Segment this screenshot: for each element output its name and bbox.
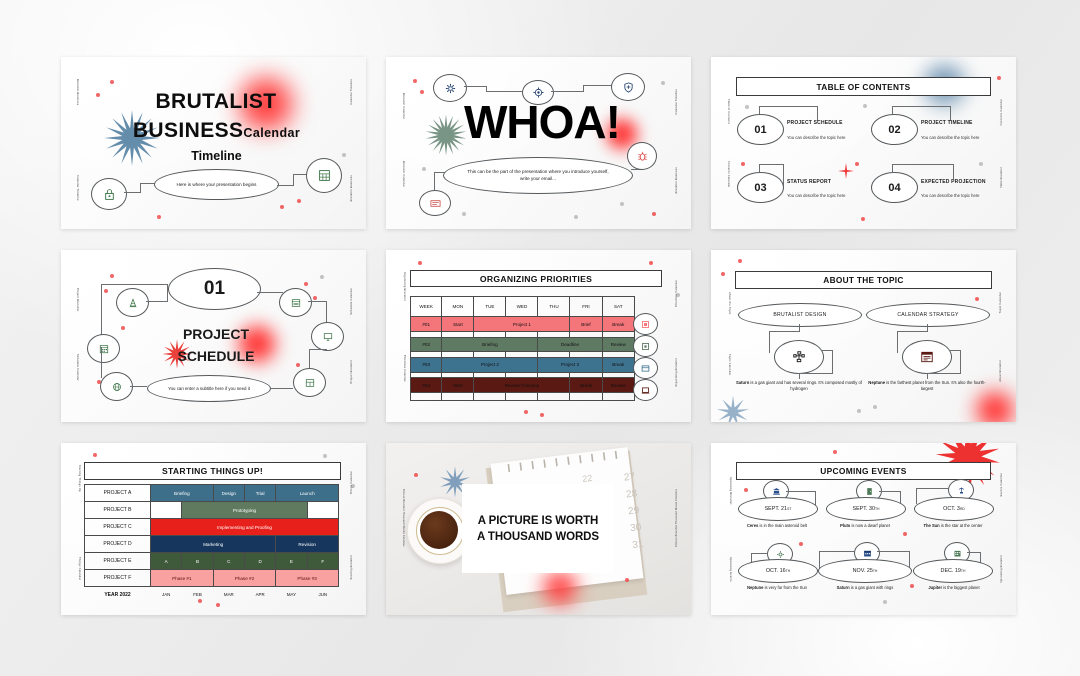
side-label: Priorities Calendar <box>675 280 678 307</box>
event-caption-rest: is in the main asteroid belt <box>758 523 807 528</box>
toc-number: 03 <box>754 182 766 194</box>
task-cell: Project 2 <box>442 358 538 373</box>
section-heading-line-1: PROJECT <box>151 326 281 342</box>
month-label: MAY <box>276 587 307 603</box>
table-header-row: WEEK MON TUE WED THU FRI SAT <box>411 297 635 317</box>
event-date: OCT. 3 <box>943 506 960 512</box>
network-icon <box>792 350 806 364</box>
year-label: YEAR 2022 <box>85 587 151 603</box>
month-label: APR <box>244 587 275 603</box>
event-caption: Neptune is very far from the Sun <box>733 585 821 591</box>
toc-label[interactable]: STATUS REPORT <box>787 179 831 185</box>
task-cell: Brief <box>570 317 602 332</box>
gantt-row[interactable]: PROJECT E A B C D E F <box>85 553 339 570</box>
column-header: WEEK <box>411 297 442 317</box>
toc-number: 02 <box>888 124 900 136</box>
column-header: THU <box>538 297 570 317</box>
quote-line-1: A PICTURE IS WORTH <box>478 515 598 527</box>
task-cell: Review Checkup <box>474 378 570 393</box>
gantt-row[interactable]: PROJECT C Implementing and Proofing <box>85 519 339 536</box>
branch-caption-rest: is a gas giant and has several rings. It… <box>749 380 862 391</box>
table-row[interactable]: #03 Project 2 Project 3 Break <box>411 358 635 373</box>
gantt-bar: Phase #3 <box>276 570 339 587</box>
gear-icon <box>445 83 456 94</box>
gantt-row[interactable]: PROJECT B Prototyping <box>85 502 339 519</box>
toc-number-oval[interactable]: 04 <box>871 172 918 203</box>
branch-heading-oval[interactable]: CALENDAR STRATEGY <box>866 303 990 327</box>
title-line-3: Timeline <box>109 149 324 163</box>
gantt-bar: Design <box>213 485 244 502</box>
event-caption: Saturn is a gas giant with rings <box>821 585 909 591</box>
page-title-bar: ABOUT THE TOPIC <box>735 271 992 289</box>
table-row[interactable]: #02 Briefing Deadline Review <box>411 337 635 352</box>
week-cell: #03 <box>411 358 442 373</box>
branch-heading-oval[interactable]: BRUTALIST DESIGN <box>738 303 862 327</box>
event-date: SEPT. 30 <box>852 506 874 512</box>
page-title-bar: ORGANIZING PRIORITIES <box>410 270 662 287</box>
event-caption: The Sun is the star at the center <box>909 523 997 529</box>
signal-icon <box>957 486 966 495</box>
calendar-grid-icon <box>318 169 331 182</box>
calendar-icon <box>863 549 872 558</box>
task-cell: Start <box>442 378 474 393</box>
globe-icon <box>112 382 122 392</box>
slide-thumbnail-picture[interactable]: 2728293031 2223242526 Picture Brutalist … <box>386 443 691 615</box>
calendar-grid-icon-badge[interactable] <box>306 158 342 193</box>
laptop-icon-badge[interactable] <box>633 379 658 401</box>
slide-thumbnail-section[interactable]: Project Brutalist Schedule Calendar Sche… <box>61 250 366 422</box>
gantt-table[interactable]: PROJECT A Briefing Design Trial Launch P… <box>84 484 339 603</box>
side-label: Calendar Timeline <box>76 175 79 201</box>
column-header: MON <box>442 297 474 317</box>
table-icon <box>305 378 315 388</box>
title-line-2: BUSINESSCalendar <box>109 119 324 143</box>
toc-label[interactable]: PROJECT SCHEDULE <box>787 120 843 126</box>
side-label: Picture Brutalist Thousand Words Calenda… <box>675 489 678 547</box>
traffic-cone-icon-badge[interactable] <box>116 288 149 317</box>
side-label: Table Brutalist <box>1000 167 1003 188</box>
lock-icon-badge[interactable] <box>91 178 127 210</box>
project-label: PROJECT A <box>85 485 151 502</box>
page-title: ORGANIZING PRIORITIES <box>480 274 592 284</box>
toc-desc: You can describe the topic here <box>921 193 989 199</box>
side-label: Schedule Calendar <box>76 354 79 381</box>
branch-heading: CALENDAR STRATEGY <box>897 312 958 318</box>
gantt-bar: C <box>213 553 244 570</box>
keyboard-icon-badge[interactable] <box>419 190 451 216</box>
column-header: FRI <box>570 297 602 317</box>
event-date: DEC. 19 <box>941 568 961 574</box>
side-label: Brutalist Calendar <box>402 161 405 187</box>
event-date-sup: TH <box>786 569 791 573</box>
branch-caption-bold: Saturn <box>736 380 749 385</box>
month-label: FEB <box>182 587 213 603</box>
title-line-1: BRUTALIST <box>111 90 321 114</box>
gallery-icon-badge[interactable] <box>633 313 658 335</box>
calendar-icon-badge[interactable] <box>87 334 120 363</box>
quote-line-2: A THOUSAND WORDS <box>477 531 599 543</box>
project-label: PROJECT C <box>85 519 151 536</box>
title-line-2-main: BUSINESS <box>133 119 244 142</box>
browser-icon <box>641 364 650 373</box>
task-cell: Briefing <box>442 337 538 352</box>
event-date-sup: TH <box>873 569 878 573</box>
branch-heading: BRUTALIST DESIGN <box>773 312 826 318</box>
side-label: Project Brutalist <box>350 360 353 383</box>
project-label: PROJECT F <box>85 570 151 587</box>
month-label: JUN <box>307 587 338 603</box>
slide-thumbnail-priorities[interactable]: Organizing Brutalist Priorities Calendar… <box>386 250 691 422</box>
event-date: NOV. 25 <box>853 568 873 574</box>
section-heading-line-2: SCHEDULE <box>146 348 286 364</box>
event-date: SEPT. 21 <box>765 506 787 512</box>
event-date-oval[interactable]: OCT. 16TH <box>738 559 818 583</box>
gantt-footer-row: YEAR 2022 JAN FEB MAR APR MAY JUN <box>85 587 339 603</box>
save-icon-badge[interactable] <box>633 335 658 357</box>
window-icon <box>291 298 301 308</box>
page-title: STARTING THINGS UP! <box>162 466 263 476</box>
slide-thumbnail-events[interactable]: Upcoming Brutalist Upcoming Events Event… <box>711 443 1016 615</box>
event-date-sup: TH <box>961 569 966 573</box>
slide-thumbnail-about[interactable]: About the Topic Topic Calendar Topic Cal… <box>711 250 1016 422</box>
side-label: Starting Brutalist <box>350 555 353 580</box>
month-label: MAR <box>213 587 244 603</box>
toc-desc: You can describe the topic here <box>787 193 855 199</box>
gantt-bar: E <box>276 553 307 570</box>
page-title: ABOUT THE TOPIC <box>823 275 903 285</box>
headline: WHOA! <box>462 95 622 149</box>
side-label: Brutalist Business <box>350 175 353 201</box>
toc-desc: You can describe the topic here <box>787 135 855 141</box>
event-date-oval[interactable]: SEPT. 21ST <box>738 497 818 521</box>
side-label: Brutalist Business <box>76 79 79 105</box>
table-row[interactable]: #04 Start Review Checkup Break Review <box>411 378 635 393</box>
title-line-2-small: Calendar <box>243 126 300 140</box>
section-number-oval[interactable]: 01 <box>168 268 261 310</box>
side-label: Contents Calendar <box>727 161 730 187</box>
slide-thumbnail-title[interactable]: Brutalist Business Calendar Timeline Cal… <box>61 57 366 229</box>
toc-number-oval[interactable]: 03 <box>737 172 784 203</box>
quote-card: A PICTURE IS WORTH A THOUSAND WORDS <box>462 484 614 573</box>
branch-caption: Neptune is the farthest planet from the … <box>863 380 991 392</box>
slide-thumbnail-gantt[interactable]: Starting Things Up Things Calendar Thing… <box>61 443 366 615</box>
gantt-bar: Phase #1 <box>151 570 214 587</box>
calendar-icon <box>99 344 109 354</box>
event-date-sup: ST <box>787 507 791 511</box>
side-label: Contents Calendar <box>1000 99 1003 125</box>
desktop-icon-badge[interactable] <box>311 322 344 351</box>
month-label: JAN <box>151 587 182 603</box>
side-label: Organizing Brutalist <box>403 272 406 301</box>
gantt-bar: Phase #2 <box>213 570 276 587</box>
table-row[interactable]: #01 Start Project 1 Brief Break <box>411 317 635 332</box>
gantt-bar: Launch <box>276 485 339 502</box>
shield-icon <box>623 82 634 93</box>
event-date-sup: TH <box>875 507 880 511</box>
toc-number: 01 <box>754 124 766 136</box>
side-label: About the Topic <box>728 292 731 315</box>
toc-number-oval[interactable]: 02 <box>871 114 918 145</box>
event-caption-rest: is a gas giant with rings <box>850 585 894 590</box>
door-icon <box>865 487 874 496</box>
callout-text: This can be the part of the presentation… <box>462 169 614 182</box>
side-label: Priorities Calendar <box>403 355 406 382</box>
branch-caption-bold: Neptune <box>868 380 885 385</box>
gantt-bar: Revision <box>276 536 339 553</box>
gantt-row[interactable]: PROJECT D Marketing Revision <box>85 536 339 553</box>
task-cell: Deadline <box>538 337 602 352</box>
side-label: Organizing Brutalist <box>675 358 678 387</box>
event-caption-bold: Jupiter <box>928 585 942 590</box>
toc-desc: You can describe the topic here <box>921 135 989 141</box>
window-icon-badge[interactable] <box>279 288 312 317</box>
page-title-bar: UPCOMING EVENTS <box>736 462 991 480</box>
callout-oval[interactable]: This can be the part of the presentation… <box>443 157 633 194</box>
event-caption: Pluto is now a dwarf planet <box>821 523 909 529</box>
slide-thumbnail-intro[interactable]: Brutalist Calendar Brutalist Calendar Ca… <box>386 57 691 229</box>
project-label: PROJECT E <box>85 553 151 570</box>
side-label: Things Calendar <box>350 471 353 494</box>
subtitle-text: You can enter a subtitle here if you nee… <box>168 386 250 392</box>
slide-deck-grid: Brutalist Business Calendar Timeline Cal… <box>0 0 1080 676</box>
article-icon <box>920 351 934 363</box>
page-title-bar: TABLE OF CONTENTS <box>736 77 991 96</box>
task-cell: Project 3 <box>538 358 602 373</box>
task-cell: Break <box>602 358 634 373</box>
side-label: Topic Calendar <box>728 354 731 375</box>
gantt-bar: A <box>151 553 182 570</box>
event-caption-bold: Ceres <box>747 523 758 528</box>
browser-icon-badge[interactable] <box>633 357 658 379</box>
column-header: SAT <box>602 297 634 317</box>
building-icon <box>953 549 962 558</box>
week-cell: #01 <box>411 317 442 332</box>
slide-thumbnail-toc[interactable]: Table of Contents Contents Calendar Cont… <box>711 57 1016 229</box>
event-date-oval[interactable]: SEPT. 30TH <box>826 497 906 521</box>
page-title: UPCOMING EVENTS <box>820 466 906 476</box>
event-caption-bold: Saturn <box>837 585 850 590</box>
side-label: Upcoming Brutalist <box>729 477 732 505</box>
project-label: PROJECT D <box>85 536 151 553</box>
side-label: Events Calendar <box>1000 473 1003 496</box>
gantt-bar: Implementing and Proofing <box>151 519 339 536</box>
task-cell: Break <box>570 378 602 393</box>
save-icon <box>641 342 650 351</box>
event-caption-rest: is very far from the Sun <box>763 585 806 590</box>
bank-icon <box>772 487 781 496</box>
side-label: Brutalist Calendar <box>402 93 405 119</box>
event-date: OCT. 16 <box>766 568 786 574</box>
event-caption-rest: is the biggest planet <box>942 585 980 590</box>
gantt-bar: Briefing <box>151 485 214 502</box>
gantt-bar: Trial <box>244 485 275 502</box>
side-label: Schedule Calendar <box>350 288 353 315</box>
event-caption-bold: Neptune <box>747 585 763 590</box>
gantt-bar: Marketing <box>151 536 276 553</box>
toc-label[interactable]: EXPECTED PROJECTION <box>921 179 986 185</box>
branch-icon-oval[interactable] <box>774 340 824 374</box>
event-caption: Ceres is in the main asteroid belt <box>733 523 821 529</box>
event-date-oval[interactable]: DEC. 19TH <box>913 559 993 583</box>
event-caption-bold: The Sun <box>924 523 940 528</box>
bug-icon-badge[interactable] <box>627 142 657 170</box>
task-cell: Review <box>602 378 634 393</box>
branch-icon-oval[interactable] <box>902 340 952 374</box>
gear-icon <box>776 550 785 559</box>
week-cell: #04 <box>411 378 442 393</box>
week-cell: #02 <box>411 337 442 352</box>
gantt-row[interactable]: PROJECT F Phase #1 Phase #2 Phase #3 <box>85 570 339 587</box>
side-label: Topic Calendar <box>999 292 1002 313</box>
coffee <box>420 511 458 549</box>
side-label: Table of Contents <box>727 99 730 124</box>
gallery-icon <box>641 320 650 329</box>
side-label: Calendar Timeline <box>675 89 678 115</box>
globe-icon-badge[interactable] <box>100 372 133 401</box>
gantt-bar: B <box>182 553 213 570</box>
toc-number: 04 <box>888 182 900 194</box>
side-label: Things Calendar <box>78 557 81 580</box>
event-date-sup: RD <box>960 507 965 511</box>
bug-icon <box>637 151 648 162</box>
column-header: TUE <box>474 297 506 317</box>
branch-caption: Saturn is a gas giant and has several ri… <box>735 380 863 392</box>
gantt-bar: Prototyping <box>182 502 307 519</box>
toc-label[interactable]: PROJECT TIMELINE <box>921 120 973 126</box>
side-label: Brutalist Business <box>675 167 678 193</box>
laptop-icon <box>641 386 650 395</box>
gantt-bar: D <box>244 553 275 570</box>
section-number: 01 <box>204 278 225 300</box>
column-header: WED <box>506 297 538 317</box>
subtitle-oval[interactable]: You can enter a subtitle here if you nee… <box>147 375 271 402</box>
gantt-bar: F <box>307 553 338 570</box>
event-caption-bold: Pluto <box>840 523 850 528</box>
table-spacer-row <box>411 393 635 401</box>
table-icon-badge[interactable] <box>293 368 326 397</box>
lock-icon <box>103 188 116 201</box>
callout-oval[interactable]: Here is where your presentation begins <box>154 169 279 200</box>
toc-number-oval[interactable]: 01 <box>737 114 784 145</box>
event-caption-rest: is the star at the center <box>940 523 983 528</box>
task-cell: Review <box>602 337 634 352</box>
callout-text: Here is where your presentation begins <box>177 182 257 188</box>
side-label: About Brutalist <box>999 360 1002 382</box>
side-label: Starting Things Up <box>78 465 81 492</box>
event-date-oval[interactable]: NOV. 25TH <box>818 559 912 583</box>
side-label: Calendar Timeline <box>350 79 353 105</box>
branch-caption-rest: is the farthest planet from the Sun. It'… <box>885 380 986 391</box>
side-label: Picture Brutalist Thousand Words Calenda… <box>402 489 405 547</box>
page-title-bar: STARTING THINGS UP! <box>84 462 341 480</box>
task-cell: Break <box>602 317 634 332</box>
page-title: TABLE OF CONTENTS <box>817 82 911 92</box>
desktop-icon <box>323 332 333 342</box>
traffic-cone-icon <box>128 298 138 308</box>
event-caption: Jupiter is the biggest planet <box>908 585 1000 591</box>
priorities-table[interactable]: WEEK MON TUE WED THU FRI SAT #01 Start P… <box>410 296 635 401</box>
event-caption-rest: is now a dwarf planet <box>850 523 890 528</box>
side-label: Upcoming Brutalist <box>1000 555 1003 583</box>
gantt-row[interactable]: PROJECT A Briefing Design Trial Launch <box>85 485 339 502</box>
event-date-oval[interactable]: OCT. 3RD <box>914 497 994 521</box>
project-label: PROJECT B <box>85 502 151 519</box>
task-cell: Start <box>442 317 474 332</box>
side-label: Upcoming Events <box>729 557 732 582</box>
keyboard-icon <box>430 199 441 208</box>
task-cell: Project 1 <box>474 317 570 332</box>
side-label: Project Brutalist <box>76 288 79 311</box>
